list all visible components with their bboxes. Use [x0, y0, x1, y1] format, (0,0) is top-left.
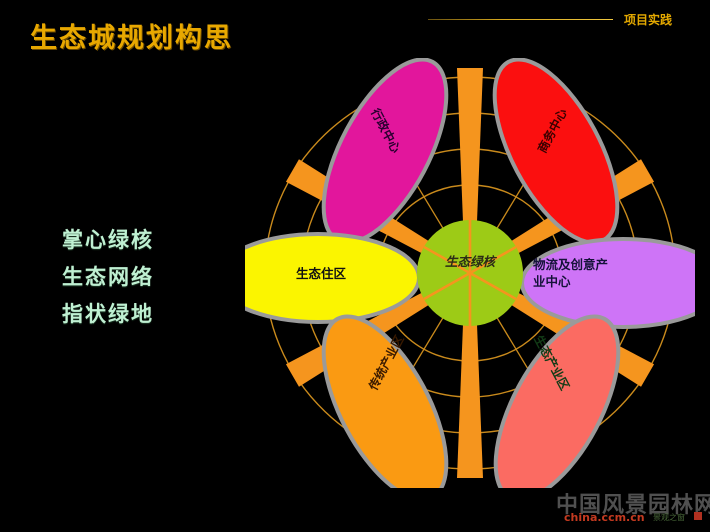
- section-label: 项目实践: [624, 11, 672, 28]
- watermark-subtext: 景观之窗: [653, 512, 685, 523]
- eco-city-concept-diagram: 生态绿核 生态住区 物流及创意产 业中心 行政中心 商务中心 传统产业区 生态产…: [245, 58, 695, 488]
- node-logistics-creative-industry-center[interactable]: [522, 239, 695, 327]
- left-notes-block: 掌心绿核 生态网络 指状绿地: [62, 222, 242, 333]
- note-line-1: 掌心绿核: [62, 222, 242, 259]
- node-eco-residential-district[interactable]: [245, 234, 419, 322]
- note-line-3: 指状绿地: [62, 296, 242, 333]
- watermark-square-mark: [694, 512, 702, 520]
- page-title: 生态城规划构思: [30, 16, 233, 55]
- slide-canvas: 生态城规划构思 项目实践 掌心绿核 生态网络 指状绿地: [0, 0, 710, 532]
- header-divider-rule: [428, 19, 613, 20]
- watermark: 中国风景园林网 china.ccm.cn 景观之窗: [556, 487, 706, 529]
- note-line-2: 生态网络: [62, 259, 242, 296]
- watermark-url: china.ccm.cn: [564, 511, 645, 524]
- diagram-svg: [245, 58, 695, 488]
